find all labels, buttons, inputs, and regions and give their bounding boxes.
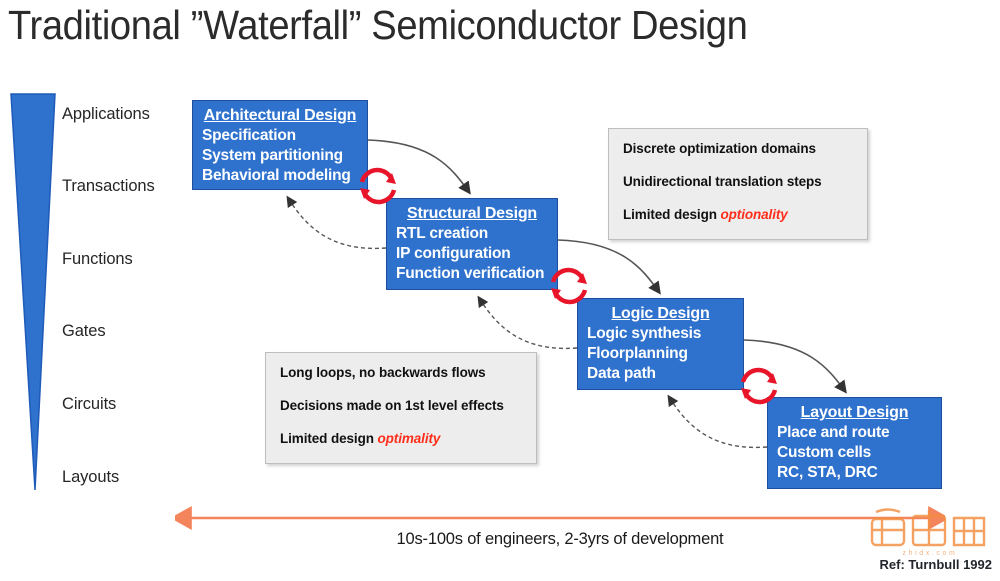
slide-canvas: Traditional ”Waterfall” Semiconductor De…	[0, 0, 1000, 581]
callout-lower-left: Long loops, no backwards flows Decisions…	[265, 352, 537, 464]
level-label-functions: Functions	[62, 250, 133, 269]
level-label-transactions: Transactions	[62, 177, 155, 196]
connector-arrow-layer	[0, 0, 1000, 581]
watermark-logo: zhidx.com	[866, 506, 994, 558]
abstraction-wedge	[8, 92, 58, 492]
level-label-layouts: Layouts	[62, 468, 119, 487]
loop-arrow-icon	[356, 164, 400, 208]
callout-upper-right: Discrete optimization domains Unidirecti…	[608, 128, 868, 240]
stage-line-function-verification: Function verification	[396, 264, 548, 284]
stage-box-logic-design[interactable]: Logic Design Logic synthesis Floorplanni…	[577, 298, 744, 390]
callout-emphasis-optimality: optimality	[378, 431, 441, 446]
stage-title-structural-design: Structural Design	[396, 204, 548, 224]
reference-citation: Ref: Turnbull 1992	[880, 557, 992, 572]
stage-line-rtl-creation: RTL creation	[396, 224, 548, 244]
callout-text-limited-design: Limited design	[623, 207, 721, 222]
callout-line-limited-optionality: Limited design optionality	[623, 207, 853, 222]
callout-emphasis-optionality: optionality	[721, 207, 788, 222]
stage-line-logic-synthesis: Logic synthesis	[587, 324, 734, 344]
stage-title-architectural-design: Architectural Design	[202, 106, 358, 126]
stage-line-ip-configuration: IP configuration	[396, 244, 548, 264]
watermark-domain-text: zhidx.com	[903, 550, 958, 557]
stage-line-data-path: Data path	[587, 364, 734, 384]
duration-caption: 10s-100s of engineers, 2-3yrs of develop…	[175, 530, 945, 549]
callout-line-limited-optimality: Limited design optimality	[280, 431, 522, 446]
stage-line-behavioral-modeling: Behavioral modeling	[202, 166, 358, 186]
stage-title-layout-design: Layout Design	[777, 403, 932, 423]
callout-line-long-loops: Long loops, no backwards flows	[280, 365, 522, 380]
stage-line-place-and-route: Place and route	[777, 423, 932, 443]
stage-line-rc-sta-drc: RC, STA, DRC	[777, 463, 932, 483]
stage-box-architectural-design[interactable]: Architectural Design Specification Syste…	[192, 100, 368, 190]
stage-line-specification: Specification	[202, 126, 358, 146]
stage-line-floorplanning: Floorplanning	[587, 344, 734, 364]
page-title: Traditional ”Waterfall” Semiconductor De…	[8, 2, 845, 49]
callout-line-discrete-domains: Discrete optimization domains	[623, 141, 853, 156]
stage-title-logic-design: Logic Design	[587, 304, 734, 324]
level-label-applications: Applications	[62, 105, 150, 124]
stage-line-custom-cells: Custom cells	[777, 443, 932, 463]
duration-span-arrow	[175, 505, 945, 533]
stage-line-system-partitioning: System partitioning	[202, 146, 358, 166]
callout-line-decisions-1st-level: Decisions made on 1st level effects	[280, 398, 522, 413]
level-label-circuits: Circuits	[62, 395, 116, 414]
callout-text-limited-design: Limited design	[280, 431, 378, 446]
loop-arrow-icon	[547, 264, 591, 308]
callout-line-unidirectional: Unidirectional translation steps	[623, 174, 853, 189]
loop-arrow-icon	[737, 364, 781, 408]
stage-box-layout-design[interactable]: Layout Design Place and route Custom cel…	[767, 397, 942, 489]
stage-box-structural-design[interactable]: Structural Design RTL creation IP config…	[386, 198, 558, 290]
level-label-gates: Gates	[62, 322, 106, 341]
